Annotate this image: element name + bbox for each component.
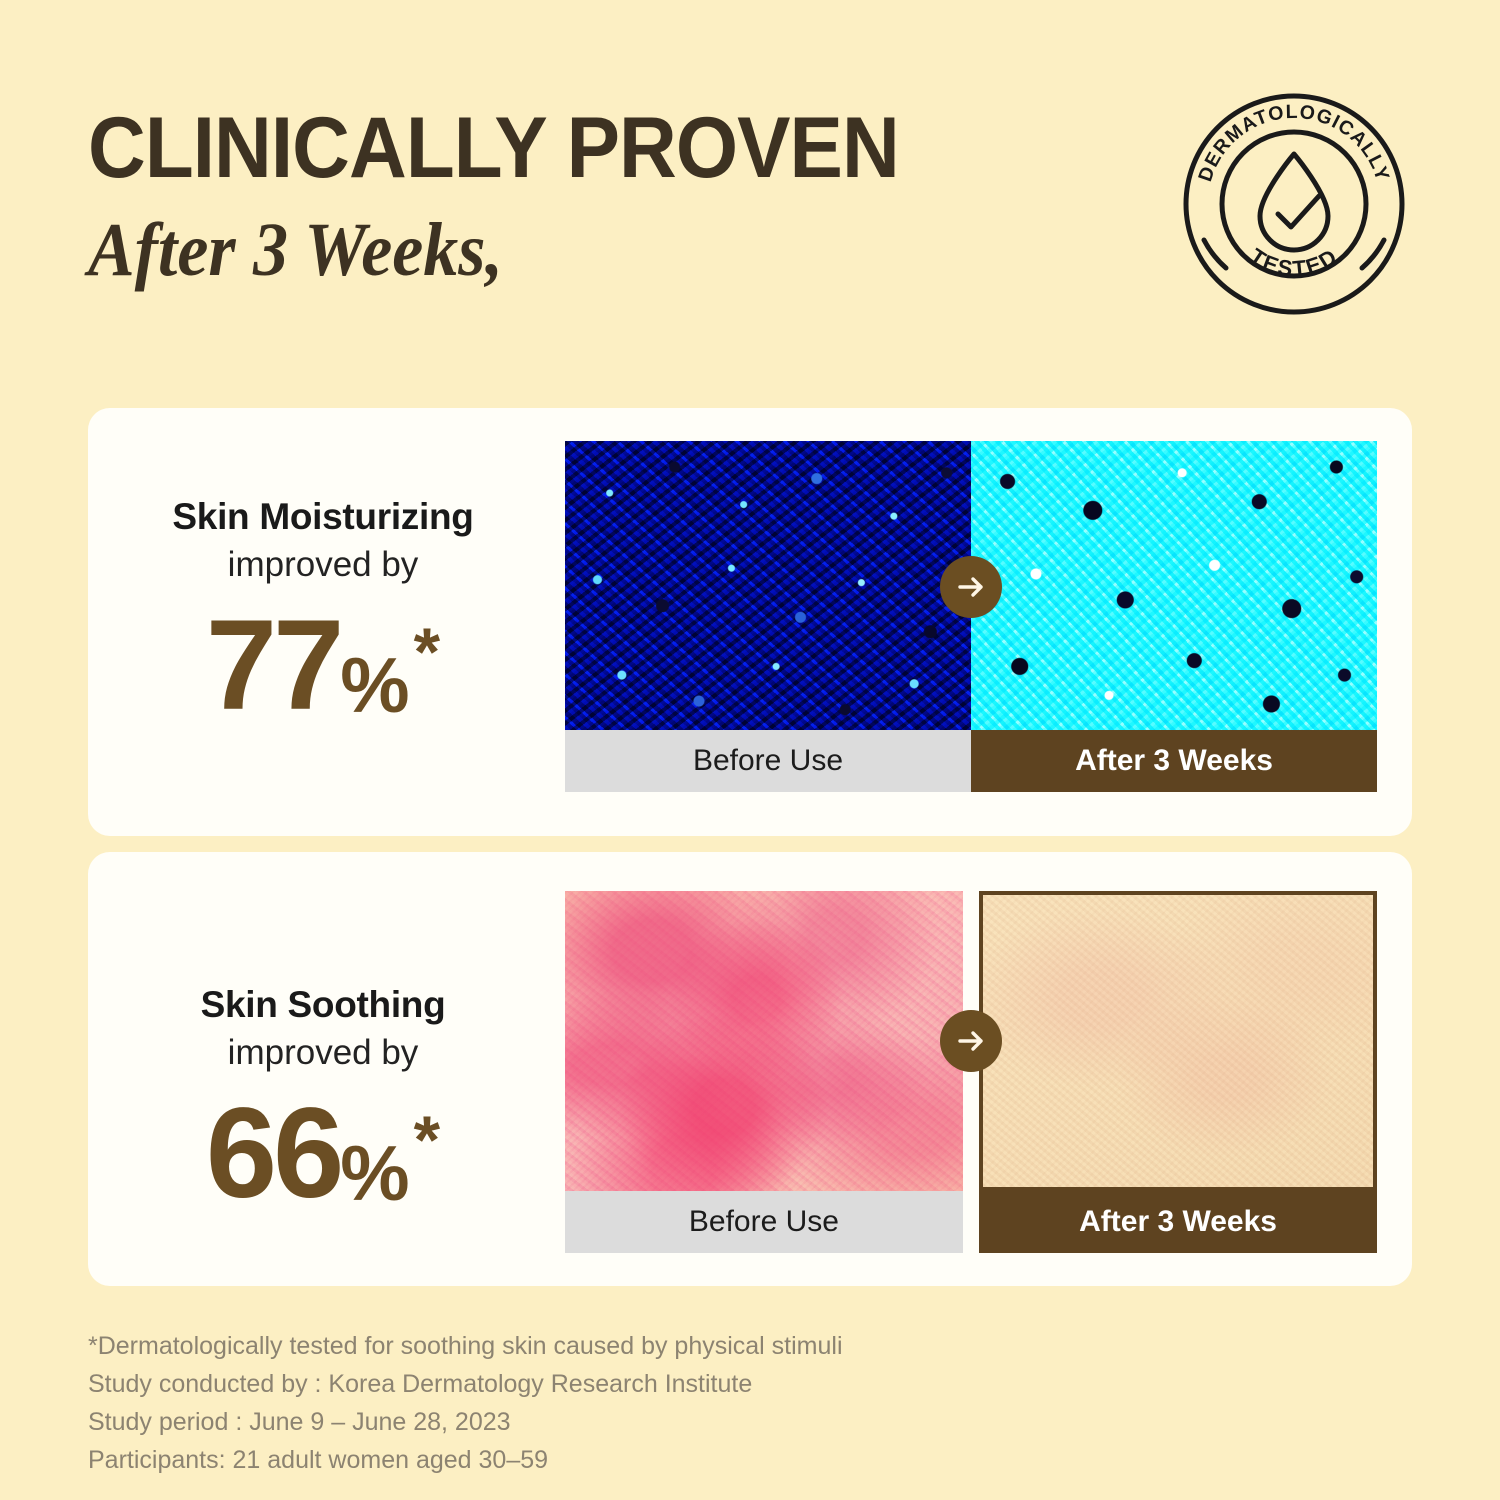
- footnote-line: Participants: 21 adult women aged 30–59: [88, 1441, 1088, 1479]
- water-drop-check-icon: [1260, 154, 1328, 250]
- after-panel: After 3 Weeks: [979, 891, 1377, 1253]
- badge-arc-left: [1204, 240, 1226, 268]
- stat-value: 66: [206, 1090, 340, 1218]
- footnote-line: Study conducted by : Korea Dermatology R…: [88, 1365, 1088, 1403]
- before-after-comparison: Before Use After 3 Weeks: [565, 441, 1377, 792]
- badge-top-text: DERMATOLOGICALLY: [1194, 101, 1393, 185]
- stat-value-group: 77 % *: [88, 602, 558, 730]
- before-image-soothing: [565, 891, 963, 1191]
- footnotes: *Dermatologically tested for soothing sk…: [88, 1327, 1088, 1479]
- after-image-soothing: [979, 891, 1377, 1191]
- stat-asterisk: *: [410, 602, 440, 686]
- after-label: After 3 Weeks: [979, 1191, 1377, 1253]
- arrow-right-icon: [940, 1010, 1002, 1072]
- stat-subtitle: improved by: [88, 1030, 558, 1076]
- before-panel: Before Use: [565, 891, 963, 1253]
- footnote-line: Study period : June 9 – June 28, 2023: [88, 1403, 1088, 1441]
- before-image-moisture: [565, 441, 971, 730]
- stat-asterisk: *: [410, 1090, 440, 1174]
- page-title: CLINICALLY PROVEN: [88, 104, 1018, 192]
- stat-title: Skin Moisturizing: [88, 494, 558, 540]
- badge-arc-right: [1362, 240, 1384, 268]
- stat-block: Skin Moisturizing improved by 77 % *: [88, 494, 558, 730]
- page-subtitle: After 3 Weeks,: [88, 210, 1008, 290]
- result-card-soothing: Skin Soothing improved by 66 % * Before …: [88, 852, 1412, 1286]
- dermatologically-tested-badge: DERMATOLOGICALLY TESTED: [1178, 88, 1410, 320]
- before-panel: Before Use: [565, 441, 971, 792]
- footnote-line: *Dermatologically tested for soothing sk…: [88, 1327, 1088, 1365]
- stat-block: Skin Soothing improved by 66 % *: [88, 982, 558, 1218]
- after-panel: After 3 Weeks: [971, 441, 1377, 792]
- before-after-comparison: Before Use After 3 Weeks: [565, 891, 1377, 1253]
- before-label: Before Use: [565, 1191, 963, 1253]
- after-image-moisture: [971, 441, 1377, 730]
- before-label: Before Use: [565, 730, 971, 792]
- header: CLINICALLY PROVEN After 3 Weeks,: [88, 104, 1088, 290]
- stat-title: Skin Soothing: [88, 982, 558, 1028]
- result-card-moisturizing: Skin Moisturizing improved by 77 % * Bef…: [88, 408, 1412, 836]
- stat-percent-symbol: %: [340, 1134, 409, 1218]
- arrow-right-icon: [940, 556, 1002, 618]
- stat-value: 77: [206, 602, 340, 730]
- stat-percent-symbol: %: [340, 646, 409, 730]
- stat-value-group: 66 % *: [88, 1090, 558, 1218]
- after-label: After 3 Weeks: [971, 730, 1377, 792]
- stat-subtitle: improved by: [88, 542, 558, 588]
